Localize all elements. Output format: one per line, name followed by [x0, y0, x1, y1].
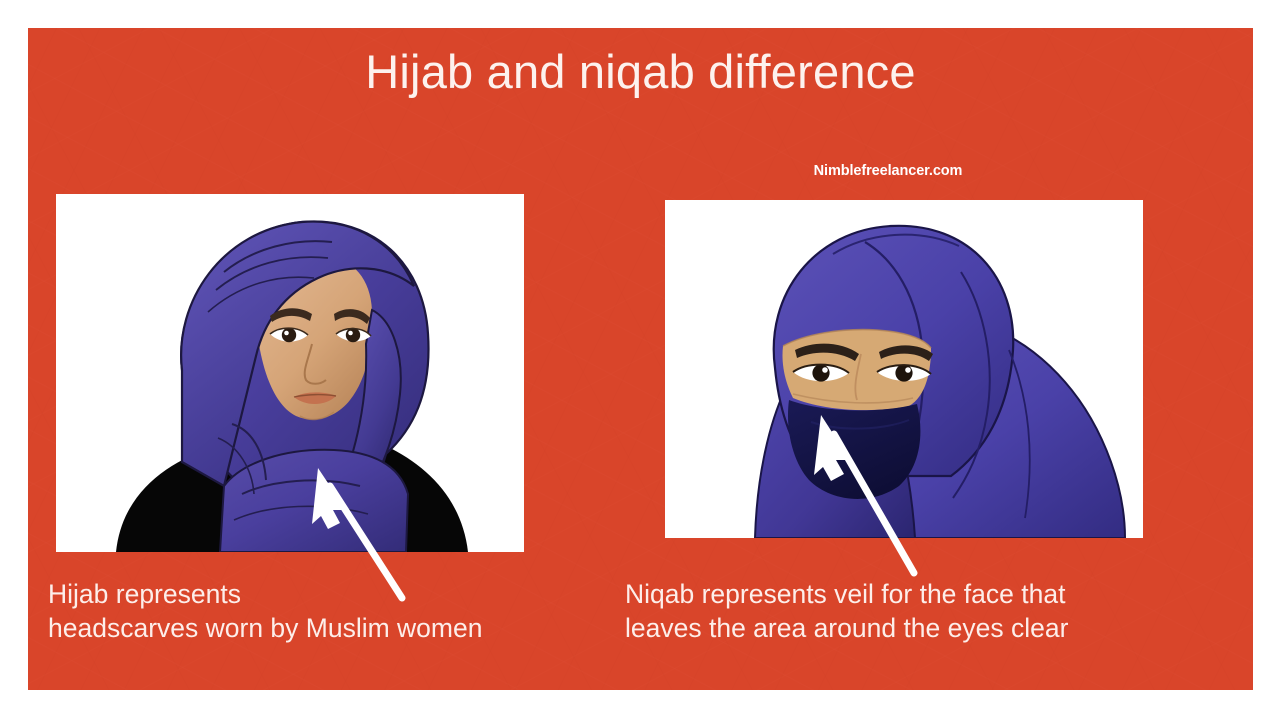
hijab-illustration	[56, 194, 524, 552]
hijab-caption: Hijab represents headscarves worn by Mus…	[48, 578, 608, 646]
page-title: Hijab and niqab difference	[28, 46, 1253, 98]
watermark-text: Nimblefreelancer.com	[768, 163, 1008, 179]
slide-canvas: Hijab and niqab difference Nimblefreelan…	[28, 28, 1253, 690]
niqab-caption: Niqab represents veil for the face that …	[625, 578, 1185, 646]
slide-screenshot: Hijab and niqab difference Nimblefreelan…	[0, 0, 1280, 720]
niqab-illustration	[665, 200, 1143, 538]
niqab-image-frame	[665, 200, 1143, 538]
hijab-image-frame	[56, 194, 524, 552]
